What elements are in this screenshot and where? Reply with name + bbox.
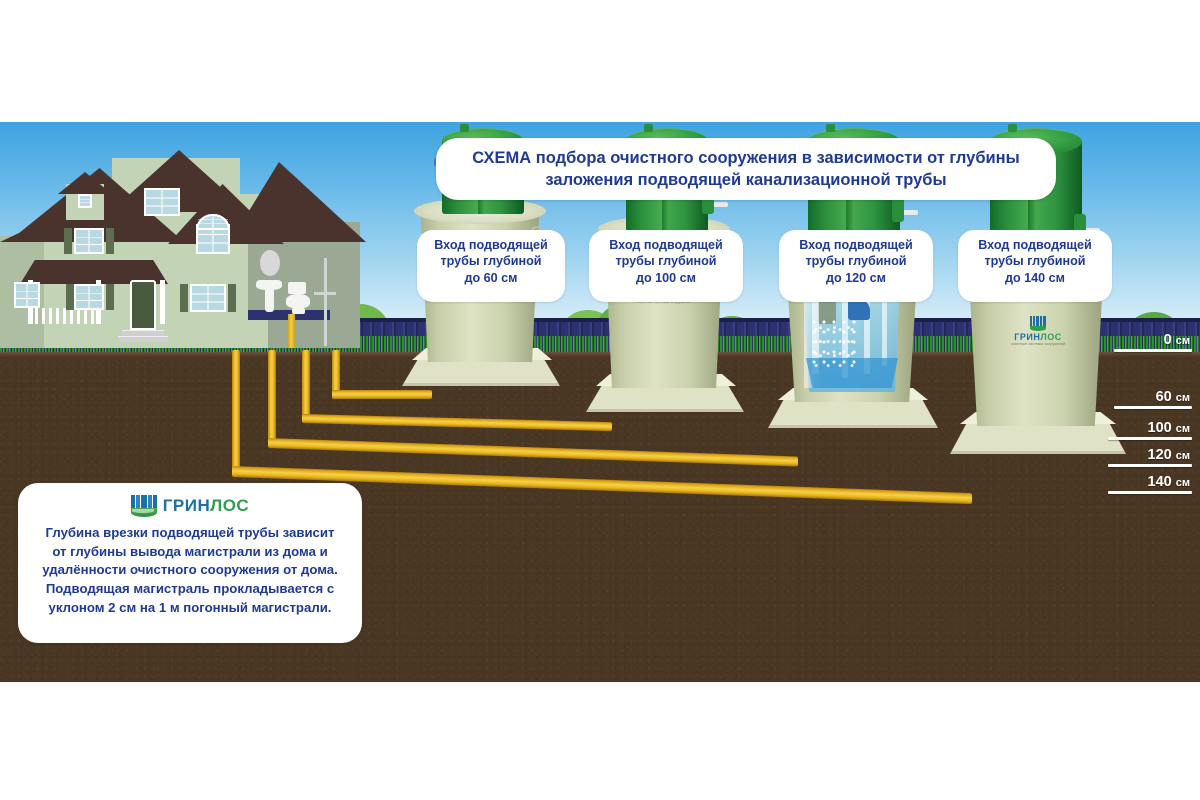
info-box-text: Глубина врезки подводящей трубы зависит …: [32, 524, 348, 618]
scheme-title-line1: СХЕМА подбора очистного сооружения в зав…: [452, 147, 1040, 169]
scheme-title: СХЕМА подбора очистного сооружения в зав…: [436, 138, 1056, 200]
tank-logo-text: ГРИНЛОС: [990, 332, 1086, 342]
callout-depth-120: Вход подводящей трубы глубиной до 120 см: [779, 230, 933, 302]
depth-label-100: 100 см: [1108, 420, 1192, 436]
toilet-icon: [288, 282, 306, 294]
scheme-title-line2: заложения подводящей канализационной тру…: [452, 169, 1040, 191]
depth-rule-100: [1108, 437, 1192, 440]
pipe-vertical-3: [268, 350, 276, 446]
callout-depth-60: Вход подводящей трубы глубиной до 60 см: [417, 230, 565, 302]
sink-icon: [256, 280, 282, 290]
depth-rule-0: [1114, 349, 1192, 352]
house-soil-stack: [288, 314, 295, 348]
mirror-icon: [260, 250, 280, 276]
depth-rule-140: [1108, 491, 1192, 494]
depth-marker-100: 100 см: [1108, 420, 1192, 440]
depth-rule-60: [1114, 406, 1192, 409]
depth-label-60: 60 см: [1114, 389, 1192, 405]
info-box: ГРИНЛОС Глубина врезки подводящей трубы …: [18, 483, 362, 643]
depth-label-0: 0 см: [1114, 332, 1192, 348]
greenlos-wordmark: ГРИНЛОС: [163, 496, 249, 516]
greenlos-mark-icon: [131, 495, 157, 517]
depth-marker-140: 140 см: [1108, 474, 1192, 494]
greenlos-logo: ГРИНЛОС: [32, 493, 348, 519]
depth-marker-0: 0 см: [1114, 332, 1192, 352]
depth-marker-60: 60 см: [1114, 389, 1192, 409]
infographic-canvas: ГРИНЛОС очистные системы сооружений: [0, 0, 1200, 800]
depth-label-120: 120 см: [1108, 447, 1192, 463]
greenlos-mark-icon: [1030, 316, 1046, 327]
callout-depth-140: Вход подводящей трубы глубиной до 140 см: [958, 230, 1112, 302]
depth-rule-120: [1108, 464, 1192, 467]
depth-marker-120: 120 см: [1108, 447, 1192, 467]
pipe-vertical-4: [232, 350, 240, 474]
tank-3-pump-icon: [848, 300, 870, 320]
tank-body-logo-4: ГРИНЛОС очистные системы сооружений: [990, 314, 1086, 346]
house-illustration: [0, 132, 360, 358]
callout-depth-100: Вход подводящей трубы глубиной до 100 см: [589, 230, 743, 302]
pipe-vertical-2: [302, 350, 310, 422]
depth-label-140: 140 см: [1108, 474, 1192, 490]
tank-logo-tagline: очистные системы сооружений: [990, 342, 1086, 346]
